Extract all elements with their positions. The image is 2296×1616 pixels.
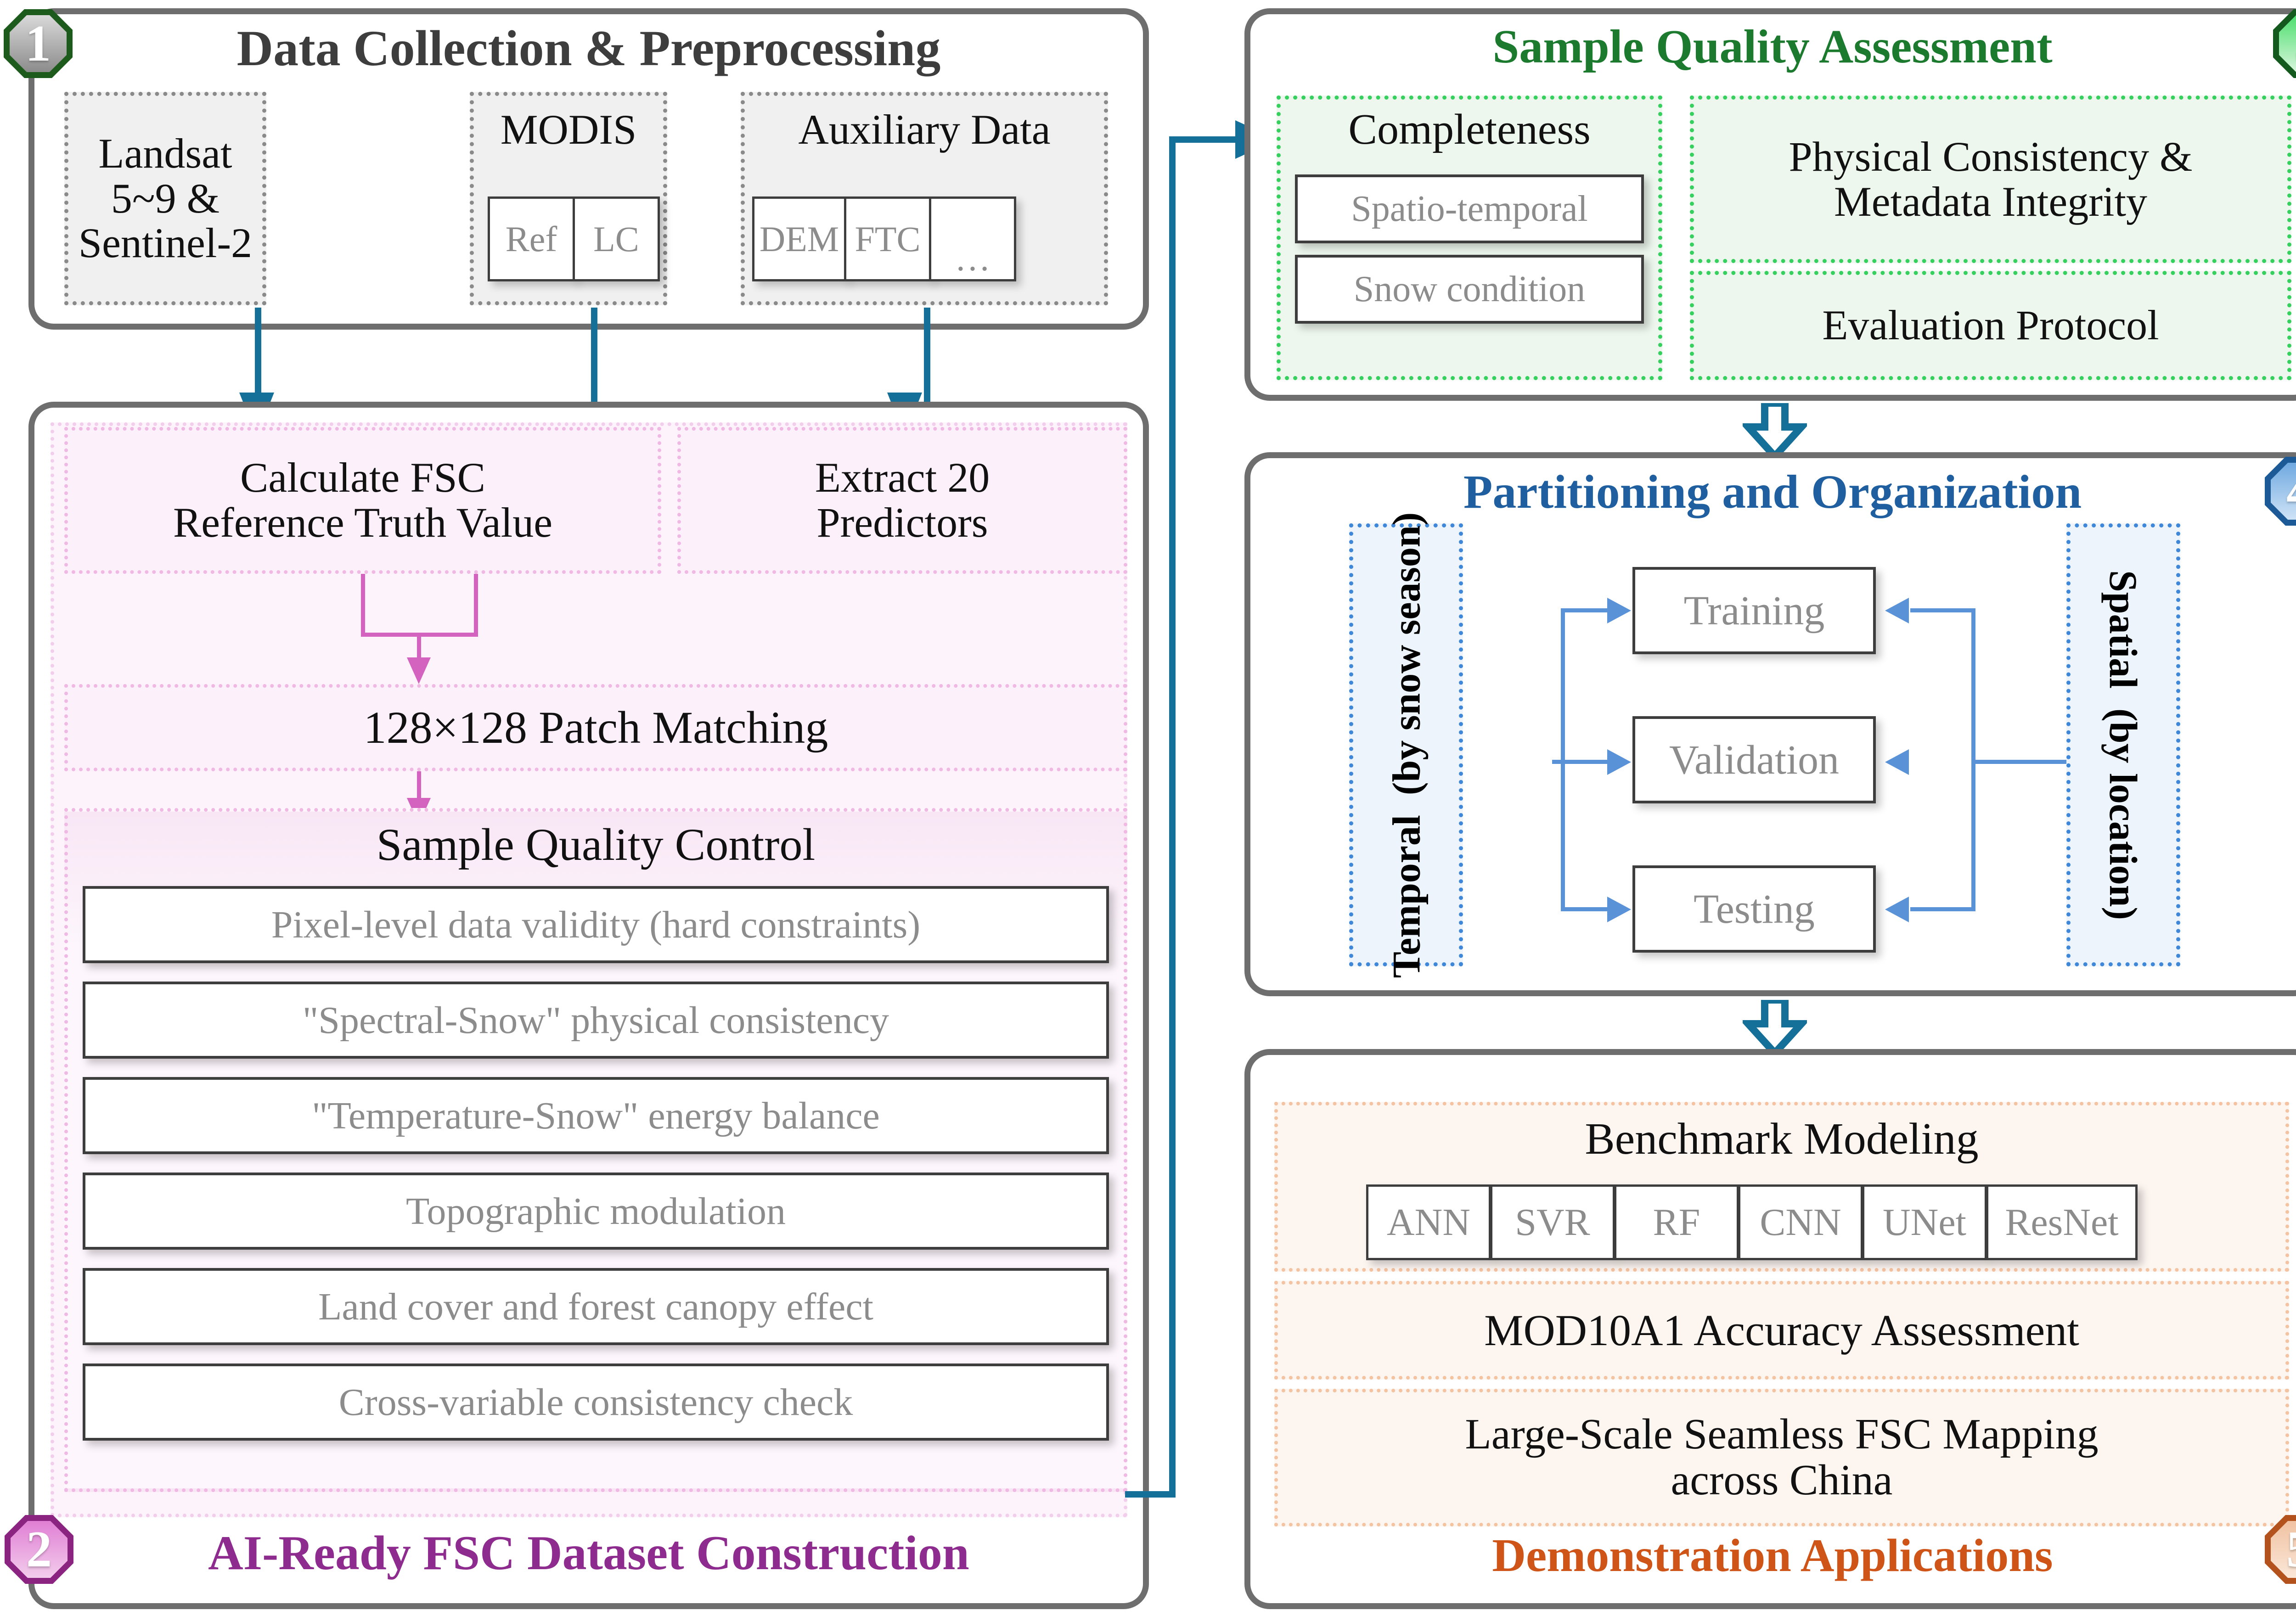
stage-2-box-extract-predictors-label: Extract 20 Predictors [677, 427, 1127, 574]
stage-4-split-training[interactable]: Training [1632, 567, 1876, 654]
connector-auxiliary-stub [924, 308, 930, 412]
stage-3-evaluation-protocol-label: Evaluation Protocol [1690, 271, 2291, 380]
stage-1-chip-ref[interactable]: Ref [488, 196, 575, 281]
stage-1-group-modis-label: MODIS [470, 100, 667, 160]
connector-stage2-to-stage3-h2 [1169, 136, 1240, 143]
temporal-arrowhead-validation [1607, 749, 1631, 775]
hollow-arrow-stage3-to-stage4 [1743, 403, 1807, 458]
stage-3-title: Sample Quality Assessment [1244, 19, 2296, 74]
stage-3-completeness-label: Completeness [1277, 100, 1662, 160]
connector-modis-stub [591, 308, 597, 412]
stage-5-model-rf[interactable]: RF [1614, 1184, 1739, 1260]
stage-4-split-testing[interactable]: Testing [1632, 865, 1876, 953]
stage-2-badge: 2 [5, 1515, 73, 1584]
spatial-feed-trunk [1975, 760, 2066, 764]
spatial-arrowhead-testing [1885, 897, 1909, 922]
stage-3-completeness-item-2[interactable]: Snow condition [1295, 255, 1644, 324]
calculate-fsc-line-2: Reference Truth Value [173, 500, 552, 545]
quality-item-6[interactable]: Cross-variable consistency check [83, 1363, 1109, 1441]
stage-4-badge-number: 4 [2286, 466, 2296, 517]
connector-landsat-to-fsc [255, 308, 261, 395]
extract-predictors-line-1: Extract 20 [815, 455, 990, 500]
stage-1-group-landsat-label: Landsat 5~9 & Sentinel-2 [64, 92, 266, 305]
quality-item-4[interactable]: Topographic modulation [83, 1173, 1109, 1250]
connector-stage2-to-stage3-v [1169, 136, 1176, 1498]
physical-line-2: Metadata Integrity [1834, 180, 2147, 224]
stage-5-model-cnn[interactable]: CNN [1738, 1184, 1863, 1260]
fsc-mapping-line-2: across China [1671, 1458, 1893, 1504]
temporal-arrowhead-training [1607, 598, 1631, 623]
stage-4-temporal-label: Temporal (by snow season) [1349, 523, 1463, 966]
extract-predictors-line-2: Predictors [816, 500, 988, 545]
spatial-arrowhead-training [1885, 598, 1909, 623]
stage-5-model-svr[interactable]: SVR [1490, 1184, 1615, 1260]
physical-line-1: Physical Consistency & [1789, 135, 2192, 180]
quality-item-3[interactable]: "Temperature-Snow" energy balance [83, 1077, 1109, 1154]
quality-item-1[interactable]: Pixel-level data validity (hard constrai… [83, 886, 1109, 963]
stage-5-footer-title: Demonstration Applications [1244, 1529, 2296, 1582]
quality-item-2[interactable]: "Spectral-Snow" physical consistency [83, 982, 1109, 1059]
spatial-line-2: (by location) [2101, 708, 2145, 920]
temporal-line-1: Temporal [1384, 815, 1428, 978]
stage-4-title: Partitioning and Organization [1244, 465, 2296, 519]
landsat-line-2: Sentinel-2 [79, 221, 252, 266]
quality-item-5[interactable]: Land cover and forest canopy effect [83, 1268, 1109, 1345]
merge-right-stub [474, 574, 478, 636]
stage-1-title: Data Collection & Preprocessing [28, 19, 1149, 78]
connector-stage2-to-stage3-h1 [1125, 1491, 1176, 1498]
temporal-line-2: (by snow season) [1384, 512, 1428, 795]
stage-5-badge-number: 5 [2286, 1524, 2296, 1575]
stage-1-badge-number: 1 [25, 18, 51, 69]
stage-4-spatial-label: Spatial (by location) [2066, 523, 2180, 966]
merge-arrowhead [407, 657, 431, 684]
spatial-arrowhead-validation [1885, 749, 1909, 775]
fsc-mapping-line-1: Large-Scale Seamless FSC Mapping [1465, 1412, 2098, 1458]
stage-1-badge: 1 [4, 9, 73, 78]
landsat-line-1: Landsat 5~9 & [64, 131, 266, 221]
merge-left-stub [361, 574, 365, 636]
flowchart-canvas: 1 Data Collection & Preprocessing Landsa… [0, 0, 2296, 1616]
stage-5-model-resnet[interactable]: ResNet [1986, 1184, 2138, 1260]
stage-4-split-validation[interactable]: Validation [1632, 716, 1876, 803]
stage-5-fsc-mapping-label: Large-Scale Seamless FSC Mapping across … [1274, 1389, 2289, 1526]
merge-drop [417, 633, 421, 659]
spatial-feed-to-training [1910, 608, 1975, 612]
stage-3-physical-consistency-label: Physical Consistency & Metadata Integrit… [1690, 95, 2291, 263]
spatial-feed-to-testing [1910, 907, 1975, 911]
stage-2-box-patch-matching-label: 128×128 Patch Matching [64, 684, 1127, 771]
spatial-feed-spine [1971, 608, 1975, 911]
stage-2-badge-number: 2 [26, 1524, 52, 1575]
stage-1-chip-more[interactable]: … [929, 196, 1016, 281]
stage-5-model-unet[interactable]: UNet [1862, 1184, 1987, 1260]
temporal-arrowhead-testing [1607, 897, 1631, 922]
stage-1-chip-ftc[interactable]: FTC [844, 196, 931, 281]
stage-1-chip-lc[interactable]: LC [573, 196, 660, 281]
stage-5-model-ann[interactable]: ANN [1366, 1184, 1491, 1260]
spatial-line-1: Spatial [2101, 570, 2145, 688]
stage-1-chip-dem[interactable]: DEM [752, 196, 846, 281]
stage-2-footer-title: AI-Ready FSC Dataset Construction [28, 1525, 1149, 1581]
stage-2-quality-control-title: Sample Quality Control [64, 813, 1127, 877]
stage-2-box-calculate-fsc-label: Calculate FSC Reference Truth Value [64, 427, 661, 574]
stage-5-accuracy-assessment-label: MOD10A1 Accuracy Assessment [1274, 1281, 2289, 1380]
stage-1-group-auxiliary-label: Auxiliary Data [741, 100, 1108, 160]
calculate-fsc-line-1: Calculate FSC [240, 455, 485, 500]
stage-3-completeness-item-1[interactable]: Spatio-temporal [1295, 174, 1644, 243]
hollow-arrow-stage4-to-stage5 [1743, 1000, 1807, 1055]
patch-to-qc-line [417, 771, 421, 800]
temporal-feed-spine [1561, 608, 1565, 911]
stage-5-benchmark-title: Benchmark Modeling [1274, 1107, 2289, 1172]
